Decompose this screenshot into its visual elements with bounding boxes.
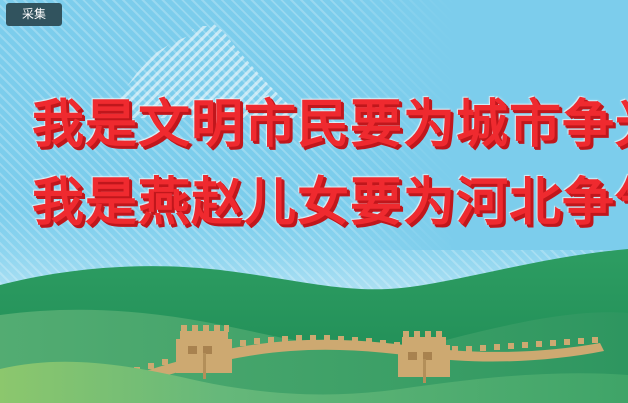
capture-button[interactable]: 采集: [6, 3, 62, 26]
slogan-block: 我是文明市民 要为城市争光 我是燕赵儿女 要为河北争气: [32, 92, 604, 248]
slogan-line-1-right: 要为城市争光: [350, 92, 628, 158]
slogan-line-1-left: 我是文明市民: [32, 92, 350, 158]
banner-screenshot: 我是文明市民 要为城市争光 我是燕赵儿女 要为河北争气 采集: [0, 0, 628, 403]
slogan-line-1: 我是文明市民 要为城市争光: [32, 92, 604, 170]
slogan-line-2-left: 我是燕赵儿女: [32, 170, 350, 236]
watchtower-left: [176, 325, 232, 379]
watchtower-right: [398, 331, 450, 383]
slogan-line-2: 我是燕赵儿女 要为河北争气: [32, 170, 604, 248]
slogan-line-2-right: 要为河北争气: [350, 170, 628, 236]
hills-landscape: [0, 243, 628, 403]
